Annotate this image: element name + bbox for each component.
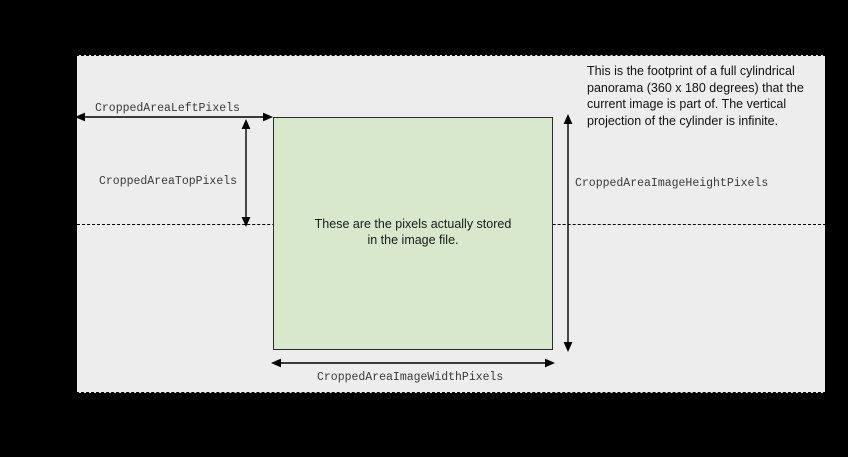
cropped-area-top-pixels-arrow [238, 119, 254, 229]
stored-pixels-caption-line2: in the image file. [274, 232, 552, 248]
stored-pixels-rectangle: These are the pixels actually stored in … [273, 117, 553, 350]
horizon-line-left-segment [0, 224, 77, 225]
diagram-canvas: These are the pixels actually stored in … [0, 0, 848, 457]
horizon-line-marker-block [48, 214, 76, 222]
cropped-area-image-width-pixels-arrow [271, 355, 557, 371]
cropped-area-top-pixels-label: CroppedAreaTopPixels [96, 174, 240, 189]
stored-pixels-caption: These are the pixels actually stored in … [274, 216, 552, 248]
cropped-area-left-pixels-label: CroppedAreaLeftPixels [92, 101, 243, 116]
cropped-area-image-width-pixels-label: CroppedAreaImageWidthPixels [314, 370, 506, 385]
stored-pixels-caption-line1: These are the pixels actually stored [274, 216, 552, 232]
cropped-area-image-height-pixels-arrow [560, 114, 576, 354]
horizon-line-right-segment [826, 224, 848, 225]
cylinder-footprint-note: This is the footprint of a full cylindri… [587, 63, 827, 129]
cropped-area-image-height-pixels-label: CroppedAreaImageHeightPixels [572, 176, 771, 191]
